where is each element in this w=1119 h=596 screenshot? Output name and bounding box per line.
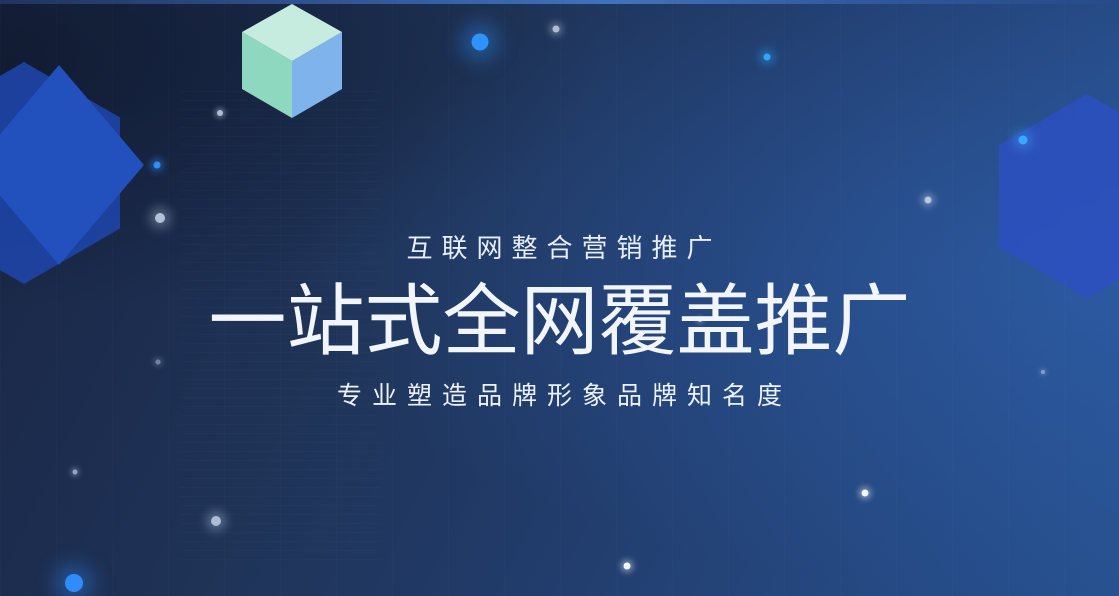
hero-banner: 互联网整合营销推广 一站式全网覆盖推广 专业塑造品牌形象品牌知名度: [0, 0, 1119, 596]
decorative-dot: [764, 54, 771, 61]
decorative-dot: [211, 516, 221, 526]
decorative-dot: [1041, 370, 1045, 374]
decorative-dot: [154, 162, 161, 169]
hero-eyebrow-text: 互联网整合营销推广: [0, 231, 1119, 265]
decorative-dot: [553, 26, 560, 33]
decorative-dot: [472, 34, 489, 51]
decorative-dot: [862, 490, 869, 497]
cube-logo-icon: [242, 4, 342, 118]
decorative-dot: [155, 213, 165, 223]
decorative-dot: [73, 470, 78, 475]
decorative-dot: [925, 197, 932, 204]
decorative-dot: [624, 563, 631, 570]
decorative-dot: [217, 110, 223, 116]
decorative-dot: [65, 574, 83, 592]
decorative-dot: [1019, 136, 1028, 145]
top-accent-strip: [0, 0, 1119, 4]
hero-tagline-text: 专业塑造品牌形象品牌知名度: [0, 379, 1119, 413]
hero-headline-text: 一站式全网覆盖推广: [0, 273, 1119, 369]
